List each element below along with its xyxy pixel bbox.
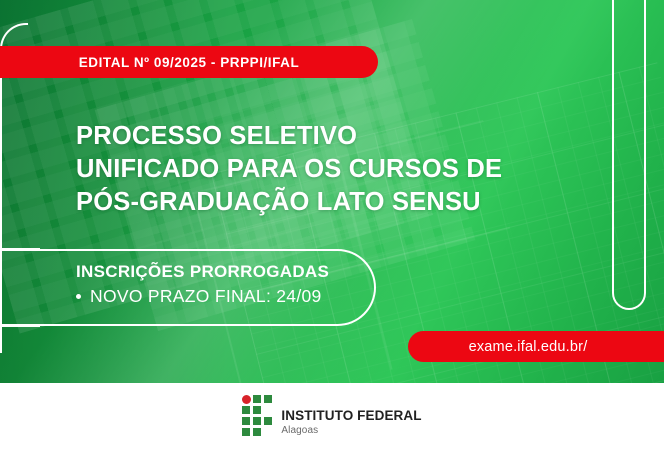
url-pill-label: exame.ifal.edu.br/ — [469, 339, 588, 355]
poster-title-line-1: PROCESSO SELETIVO — [76, 120, 596, 153]
logo-square — [253, 406, 261, 414]
logo-red-dot-icon — [242, 395, 251, 404]
logo-square — [253, 395, 261, 403]
bullet-dot-icon — [76, 294, 81, 299]
poster-footer: INSTITUTO FEDERAL Alagoas — [0, 383, 664, 450]
registration-deadline-text: NOVO PRAZO FINAL: 24/09 — [90, 285, 322, 308]
registration-deadline-item: NOVO PRAZO FINAL: 24/09 — [76, 285, 386, 308]
registration-callout-content: INSCRIÇÕES PRORROGADAS NOVO PRAZO FINAL:… — [76, 261, 386, 308]
poster-title: PROCESSO SELETIVO UNIFICADO PARA OS CURS… — [76, 120, 596, 219]
edital-banner-label: EDITAL Nº 09/2025 - PRPPI/IFAL — [79, 55, 300, 70]
logo-square — [242, 406, 250, 414]
poster-title-line-2: UNIFICADO PARA OS CURSOS DE — [76, 153, 596, 186]
logo-square — [253, 417, 261, 425]
edital-banner: EDITAL Nº 09/2025 - PRPPI/IFAL — [0, 46, 378, 78]
ifal-logo-subtitle: Alagoas — [281, 424, 421, 437]
ifal-logo-mark-icon — [242, 395, 273, 435]
logo-square — [264, 417, 272, 425]
logo-square — [264, 395, 272, 403]
poster-green-background: EDITAL Nº 09/2025 - PRPPI/IFAL PROCESSO … — [0, 0, 664, 383]
poster-title-line-3: PÓS-GRADUAÇÃO LATO SENSU — [76, 186, 596, 219]
poster-root: EDITAL Nº 09/2025 - PRPPI/IFAL PROCESSO … — [0, 0, 664, 450]
logo-square — [242, 428, 250, 436]
ifal-logo-title: INSTITUTO FEDERAL — [281, 409, 421, 423]
logo-square — [253, 428, 261, 436]
registration-heading: INSCRIÇÕES PRORROGADAS — [76, 261, 386, 283]
logo-square — [242, 417, 250, 425]
ifal-logo-text: INSTITUTO FEDERAL Alagoas — [281, 395, 421, 437]
url-pill[interactable]: exame.ifal.edu.br/ — [408, 331, 664, 362]
ifal-logo: INSTITUTO FEDERAL Alagoas — [242, 395, 421, 437]
